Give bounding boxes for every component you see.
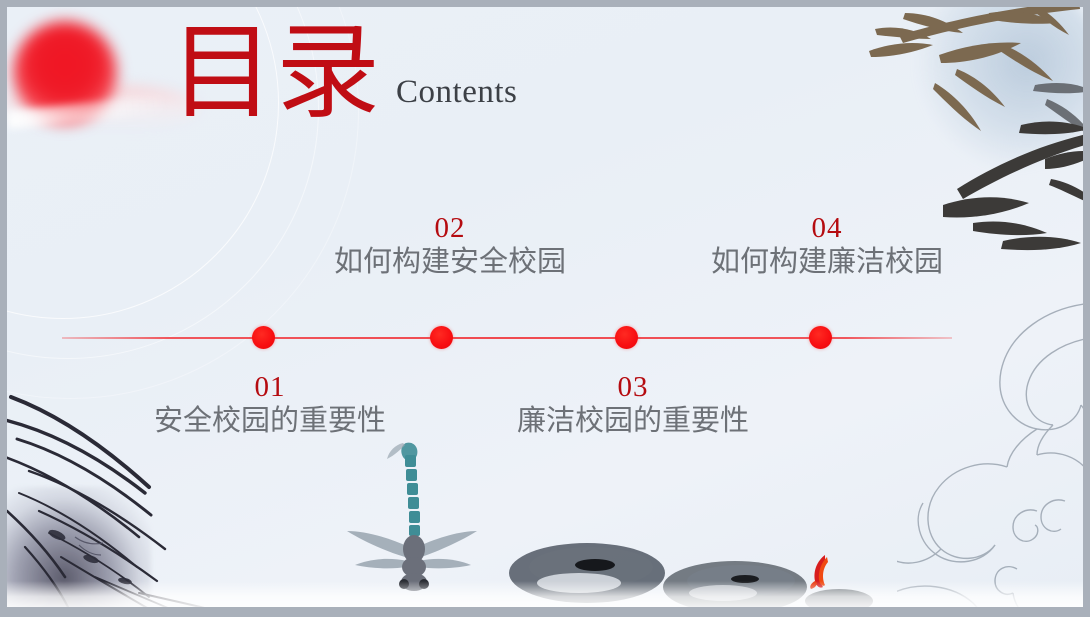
timeline-item-2[interactable]: 02 如何构建安全校园: [290, 213, 610, 283]
red-sun-icon: [13, 21, 117, 125]
timeline-dot-2[interactable]: [430, 326, 453, 349]
dragonfly-icon: [347, 439, 477, 599]
ground-haze: [7, 581, 1083, 607]
sun-streak-icon: [7, 95, 168, 130]
slide-canvas: 目录 Contents 01 安全校园的重要性 02 如何构建安全校园 03 廉…: [7, 7, 1083, 607]
timeline-dot-1[interactable]: [252, 326, 275, 349]
timeline-dot-4[interactable]: [809, 326, 832, 349]
timeline-item-4-number: 04: [667, 213, 987, 243]
timeline-item-3[interactable]: 03 廉洁校园的重要性: [473, 372, 793, 442]
timeline-item-3-number: 03: [473, 372, 793, 402]
cloud-pattern-icon: [897, 263, 1083, 607]
page-title: 目录 Contents: [170, 23, 517, 125]
timeline-item-2-number: 02: [290, 213, 610, 243]
slide-frame: 目录 Contents 01 安全校园的重要性 02 如何构建安全校园 03 廉…: [0, 0, 1090, 617]
timeline-item-1[interactable]: 01 安全校园的重要性: [110, 372, 430, 442]
timeline-item-4-label: 如何构建廉洁校园: [667, 243, 987, 282]
timeline-item-1-number: 01: [110, 372, 430, 402]
timeline-item-4[interactable]: 04 如何构建廉洁校园: [667, 213, 987, 283]
mist-decoration: [913, 7, 1083, 167]
timeline-item-2-label: 如何构建安全校园: [290, 243, 610, 282]
timeline-item-3-label: 廉洁校园的重要性: [473, 402, 793, 441]
title-chinese: 目录: [170, 23, 382, 125]
title-english: Contents: [396, 74, 517, 111]
timeline-item-1-label: 安全校园的重要性: [110, 402, 430, 441]
timeline-dot-3[interactable]: [615, 326, 638, 349]
